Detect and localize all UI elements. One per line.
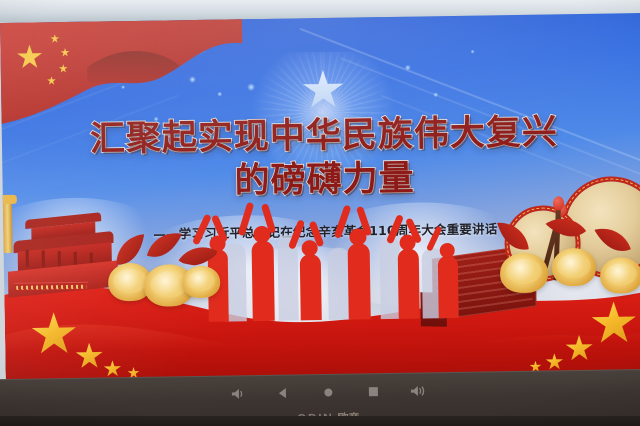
crowd-back-figure xyxy=(277,234,298,320)
celebrating-crowd-silhouette xyxy=(199,202,461,322)
peony-flower-icon xyxy=(600,257,640,294)
tiananmen-column xyxy=(26,250,29,267)
power-icon[interactable] xyxy=(320,384,336,400)
lower-frame-shadow xyxy=(0,416,640,426)
peony-flower-icon xyxy=(500,252,549,293)
volume-up-icon[interactable] xyxy=(410,382,426,398)
bokeh-dot-icon xyxy=(121,85,125,89)
flag-fold-shadow xyxy=(86,46,192,90)
bezel-control-bar[interactable] xyxy=(0,379,640,405)
peony-flower-icon xyxy=(182,266,220,299)
flag-small-star-icon xyxy=(59,64,68,73)
crowd-figure xyxy=(348,243,371,319)
huabiao-pillar-icon xyxy=(3,201,13,253)
bokeh-dot-icon xyxy=(471,50,475,54)
flag-small-star-icon xyxy=(60,48,69,57)
bokeh-dot-icon xyxy=(405,65,411,71)
slide-title-block: 汇聚起实现中华民族伟大复兴 的磅礴力量 xyxy=(2,109,640,207)
tiananmen-banner xyxy=(14,282,88,291)
slide-screen[interactable]: 汇聚起实现中华民族伟大复兴 的磅礴力量 ——学习习近平总书记在纪念辛亥革命110… xyxy=(0,13,640,381)
tiananmen-column xyxy=(42,250,45,267)
crowd-figure xyxy=(438,256,459,318)
bokeh-dot-icon xyxy=(433,92,438,97)
previous-icon[interactable] xyxy=(275,385,291,401)
flag-small-star-icon xyxy=(47,76,56,85)
tiananmen-gate-icon xyxy=(0,209,126,315)
china-flag-icon xyxy=(0,17,246,129)
crowd-figure xyxy=(252,241,275,321)
bokeh-dot-icon xyxy=(217,92,222,97)
photograph-of-display: 汇聚起实现中华民族伟大复兴 的磅礴力量 ——学习习近平总书记在纪念辛亥革命110… xyxy=(0,0,640,426)
flag-big-star-icon xyxy=(16,44,42,69)
volume-down-icon[interactable] xyxy=(230,385,246,401)
crowd-figure-arm xyxy=(238,202,255,237)
peony-flower-icon xyxy=(552,248,597,287)
stop-icon[interactable] xyxy=(365,383,381,399)
crowd-figure xyxy=(300,254,322,320)
bokeh-dot-icon xyxy=(189,76,196,83)
crowd-figure xyxy=(398,249,420,319)
interactive-display-panel: 汇聚起实现中华民族伟大复兴 的磅礴力量 ——学习习近平总书记在纪念辛亥革命110… xyxy=(0,11,640,426)
flag-small-star-icon xyxy=(50,34,59,43)
